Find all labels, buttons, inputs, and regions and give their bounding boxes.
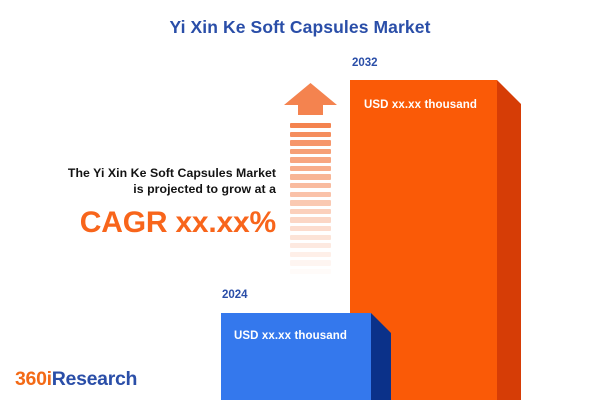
arrow-stripe: [290, 209, 331, 214]
cagr-value: CAGR xx.xx%: [18, 206, 276, 239]
arrow-stripe: [290, 269, 331, 274]
arrow-stripe: [290, 183, 331, 188]
arrow-stripe: [290, 157, 331, 162]
cagr-line-2: is projected to grow at a: [18, 181, 276, 197]
arrow-stripe: [290, 149, 331, 154]
logo-text-research: Research: [52, 368, 137, 390]
arrow-stripes: [290, 123, 331, 282]
growth-arrow-icon: [283, 82, 338, 282]
arrow-stripe: [290, 226, 331, 231]
bar-2024-front-face: USD xx.xx thousand: [221, 313, 371, 400]
bar-2024-value-label: USD xx.xx thousand: [234, 330, 369, 342]
arrow-head-icon: [283, 82, 338, 122]
arrow-stripe: [290, 200, 331, 205]
brand-logo: 360iResearch: [15, 368, 137, 391]
arrow-stripe: [290, 217, 331, 222]
arrow-stripe: [290, 260, 331, 265]
bar-2032-side-face: [497, 80, 521, 400]
arrow-stripe: [290, 252, 331, 257]
arrow-stripe: [290, 123, 331, 128]
bar-2024: USD xx.xx thousand: [221, 313, 391, 400]
arrow-stripe: [290, 166, 331, 171]
bar-2032-value-label: USD xx.xx thousand: [364, 99, 494, 111]
bar-label-2024: 2024: [222, 289, 248, 301]
cagr-line-1: The Yi Xin Ke Soft Capsules Market: [18, 165, 276, 181]
page-title: Yi Xin Ke Soft Capsules Market: [0, 17, 600, 38]
arrow-stripe: [290, 235, 331, 240]
bar-label-2032: 2032: [352, 57, 378, 69]
cagr-callout: The Yi Xin Ke Soft Capsules Market is pr…: [18, 165, 276, 239]
bar-2024-side-face: [371, 313, 391, 400]
infographic-canvas: Yi Xin Ke Soft Capsules Market 2032 USD …: [0, 0, 600, 400]
arrow-stripe: [290, 140, 331, 145]
arrow-stripe: [290, 243, 331, 248]
arrow-stripe: [290, 174, 331, 179]
logo-text-360i: 360i: [15, 368, 52, 390]
arrow-stripe: [290, 132, 331, 137]
arrow-stripe: [290, 192, 331, 197]
